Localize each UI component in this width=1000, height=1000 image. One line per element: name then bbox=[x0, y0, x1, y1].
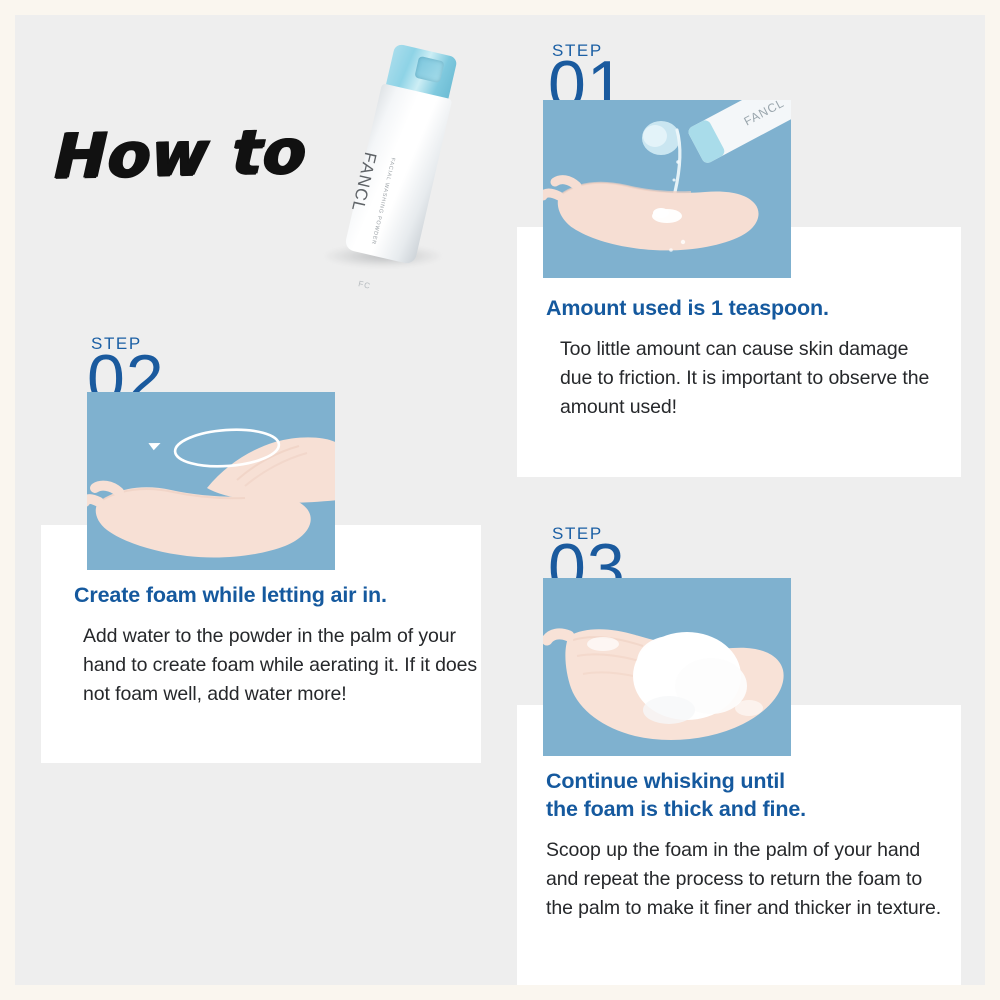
photo-03-illustration bbox=[543, 578, 791, 756]
page-canvas: How to FANCL FACIAL WASHING POWDER FC ST… bbox=[0, 0, 1000, 1000]
step-body-03: Scoop up the foam in the palm of your ha… bbox=[546, 836, 946, 923]
bottle-graphic: FANCL FACIAL WASHING POWDER FC bbox=[344, 42, 462, 265]
bottle-body: FANCL FACIAL WASHING POWDER FC bbox=[344, 83, 452, 265]
step-heading-03: Continue whisking until the foam is thic… bbox=[546, 768, 806, 823]
bottle-brand-label: FANCL bbox=[347, 150, 380, 214]
step-block-03: STEP 03 bbox=[502, 510, 977, 985]
step-block-01: STEP 01 FANCL bbox=[502, 25, 977, 485]
step-photo-03 bbox=[543, 578, 791, 756]
step-body-02: Add water to the powder in the palm of y… bbox=[83, 622, 483, 709]
step-photo-01: FANCL bbox=[543, 100, 791, 278]
photo-01-illustration: FANCL bbox=[543, 100, 791, 278]
product-bottle-image: FANCL FACIAL WASHING POWDER FC bbox=[315, 33, 465, 283]
content-stage: How to FANCL FACIAL WASHING POWDER FC ST… bbox=[15, 15, 985, 985]
page-title: How to bbox=[54, 120, 308, 187]
step-heading-01: Amount used is 1 teaspoon. bbox=[546, 295, 829, 323]
photo-02-illustration bbox=[87, 392, 335, 570]
bottle-cap-notch bbox=[414, 56, 444, 83]
step-body-01: Too little amount can cause skin damage … bbox=[560, 335, 940, 422]
step-block-02: STEP 02 Cre bbox=[41, 320, 501, 770]
bottle-base-mark: FC bbox=[357, 279, 371, 291]
step-heading-02: Create foam while letting air in. bbox=[74, 582, 387, 610]
step-photo-02 bbox=[87, 392, 335, 570]
